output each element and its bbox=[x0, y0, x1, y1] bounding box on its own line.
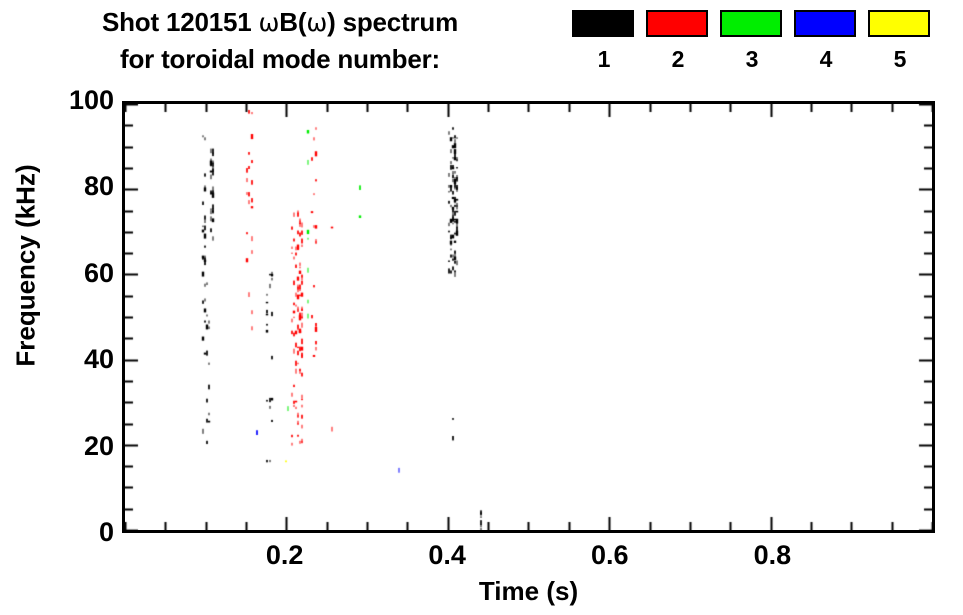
legend-swatch-5 bbox=[868, 10, 930, 37]
legend-label-4: 4 bbox=[794, 46, 858, 72]
title-suffix: ) spectrum bbox=[327, 7, 458, 37]
legend-entry-3[interactable]: 3 bbox=[720, 10, 784, 72]
plot-area bbox=[122, 101, 935, 533]
legend-swatch-1 bbox=[572, 10, 634, 37]
x-tick-label-0.4: 0.4 bbox=[392, 540, 502, 570]
legend-entry-4[interactable]: 4 bbox=[794, 10, 858, 72]
spectrogram-canvas bbox=[125, 104, 932, 530]
legend-entry-2[interactable]: 2 bbox=[646, 10, 710, 72]
x-tick-label-0.2: 0.2 bbox=[230, 540, 340, 570]
x-axis-tick-labels: 0.20.40.60.8 bbox=[0, 540, 963, 580]
legend-swatch-2 bbox=[646, 10, 708, 37]
legend-entry-5[interactable]: 5 bbox=[868, 10, 932, 72]
y-tick-label-20: 20 bbox=[24, 433, 114, 460]
legend-label-1: 1 bbox=[572, 46, 636, 72]
legend-label-3: 3 bbox=[720, 46, 784, 72]
legend-label-5: 5 bbox=[868, 46, 932, 72]
mode-number-legend: 12345 bbox=[572, 10, 952, 88]
omega-symbol-1: ω bbox=[259, 8, 280, 37]
legend-entry-1[interactable]: 1 bbox=[572, 10, 636, 72]
legend-swatch-3 bbox=[720, 10, 782, 37]
y-axis-title: Frequency (kHz) bbox=[11, 106, 42, 426]
legend-swatch-4 bbox=[794, 10, 856, 37]
legend-label-2: 2 bbox=[646, 46, 710, 72]
title-mid: B( bbox=[279, 7, 306, 37]
omega-symbol-2: ω bbox=[306, 8, 327, 37]
spectrogram-figure: Shot 120151 ωB(ω) spectrum for toroidal … bbox=[0, 0, 963, 615]
title-prefix: Shot 120151 bbox=[102, 7, 259, 37]
x-axis-title: Time (s) bbox=[122, 576, 935, 607]
x-tick-label-0.6: 0.6 bbox=[555, 540, 665, 570]
x-tick-label-0.8: 0.8 bbox=[717, 540, 827, 570]
